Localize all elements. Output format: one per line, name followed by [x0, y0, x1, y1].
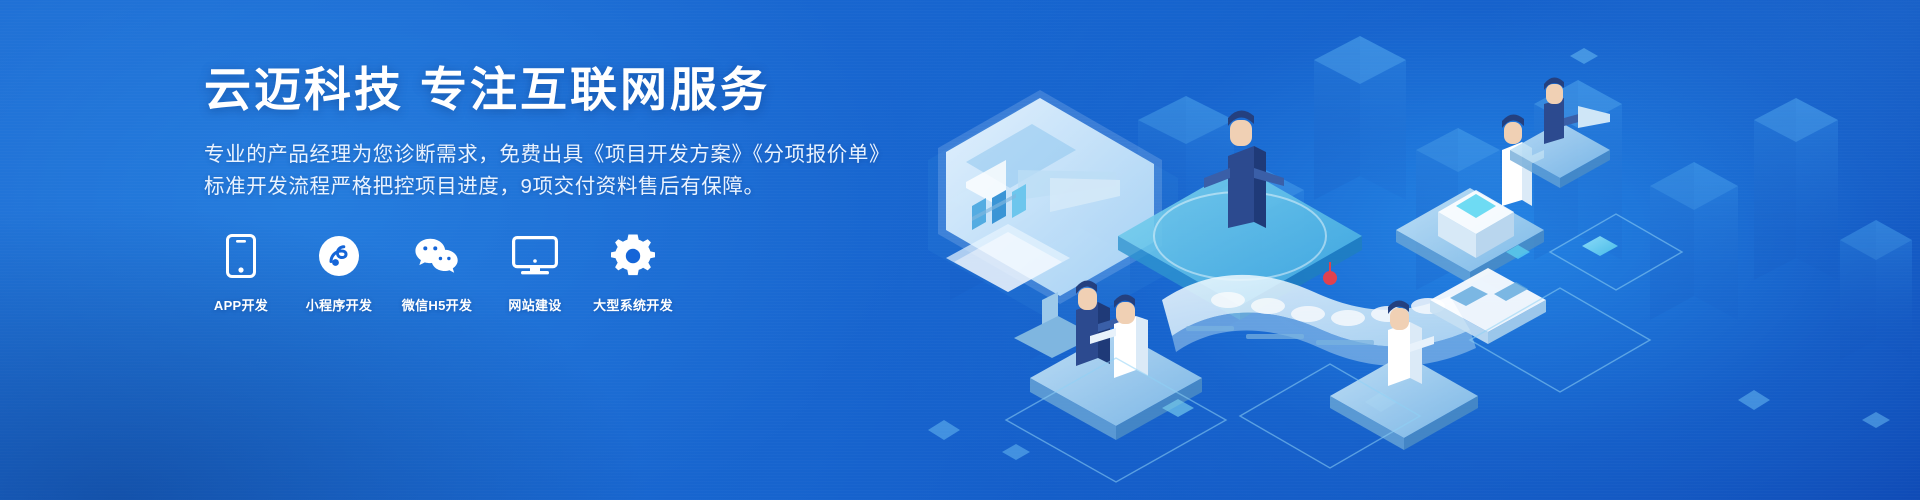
mobile-phone-icon	[218, 233, 264, 279]
subtitle-block: 专业的产品经理为您诊断需求，免费出具《项目开发方案》《分项报价单》 标准开发流程…	[204, 139, 1104, 203]
service-item-miniprogram[interactable]: 小程序开发	[302, 233, 376, 314]
service-label-app: APP开发	[214, 295, 268, 314]
service-item-wechat[interactable]: 微信H5开发	[400, 233, 474, 314]
gear-icon	[610, 233, 656, 279]
monitor-icon	[512, 233, 558, 279]
subtitle-line-2: 标准开发流程严格把控项目进度，9项交付资料售后有保障。	[204, 171, 1104, 203]
service-item-app[interactable]: APP开发	[204, 233, 278, 314]
subtitle-line-1: 专业的产品经理为您诊断需求，免费出具《项目开发方案》《分项报价单》	[204, 139, 1104, 171]
wechat-icon	[414, 233, 460, 279]
service-label-miniprogram: 小程序开发	[306, 295, 373, 314]
service-icon-row: APP开发 小程序开发	[204, 233, 1104, 314]
service-label-system: 大型系统开发	[593, 295, 673, 314]
page-title: 云迈科技 专注互联网服务	[204, 62, 1104, 117]
banner-content: 云迈科技 专注互联网服务 专业的产品经理为您诊断需求，免费出具《项目开发方案》《…	[204, 62, 1104, 314]
service-item-website[interactable]: 网站建设	[498, 233, 572, 314]
service-label-website: 网站建设	[508, 295, 561, 314]
mini-program-icon	[316, 233, 362, 279]
service-item-system[interactable]: 大型系统开发	[596, 233, 670, 314]
service-label-wechat: 微信H5开发	[402, 295, 472, 314]
hero-banner: 云迈科技 专注互联网服务 专业的产品经理为您诊断需求，免费出具《项目开发方案》《…	[0, 0, 1920, 500]
